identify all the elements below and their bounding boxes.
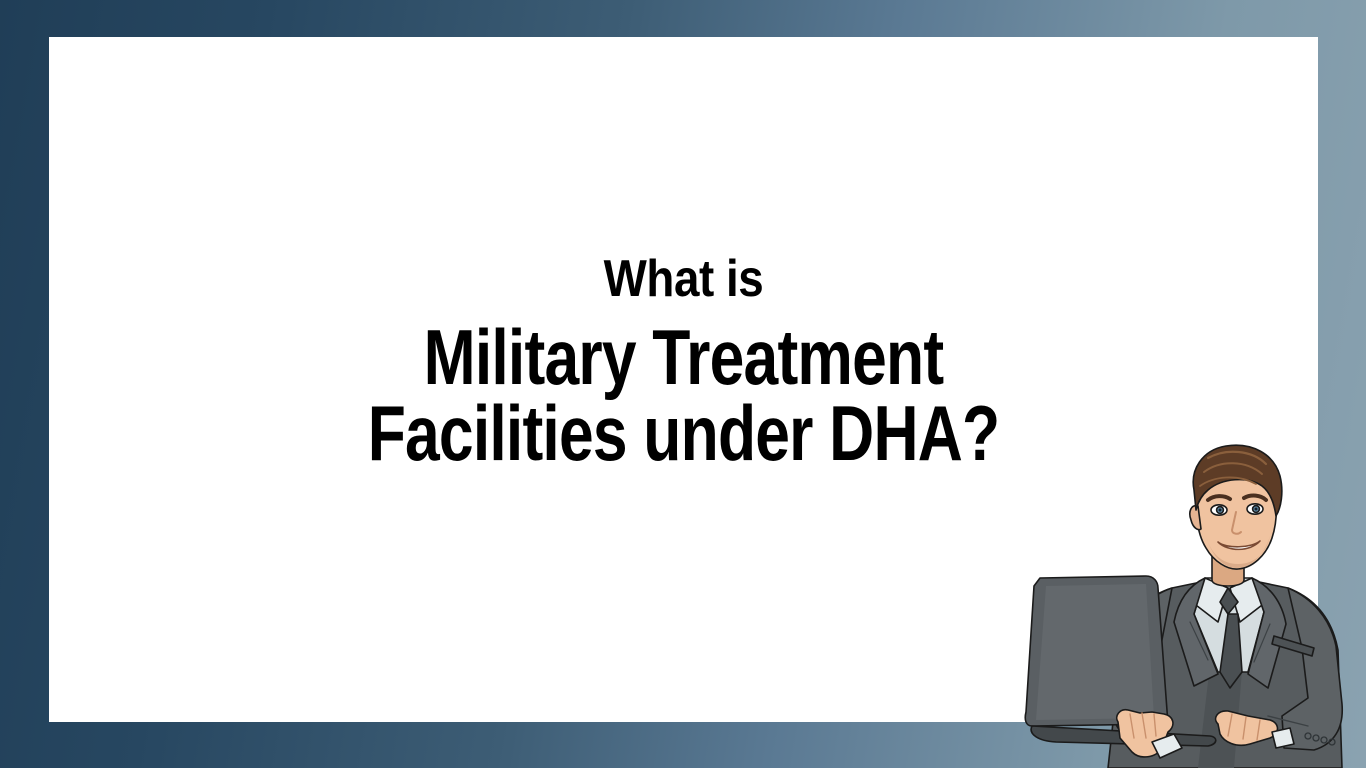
white-content-card: What is Military Treatment Facilities un…	[49, 37, 1318, 722]
headline-line-2: Facilities under DHA?	[176, 395, 1191, 471]
slide-headline: Military Treatment Facilities under DHA?	[49, 319, 1318, 471]
presentation-slide: What is Military Treatment Facilities un…	[0, 0, 1366, 768]
headline-line-1: Military Treatment	[176, 319, 1191, 395]
title-block: What is Military Treatment Facilities un…	[49, 37, 1318, 471]
slide-eyebrow-text: What is	[125, 251, 1242, 307]
